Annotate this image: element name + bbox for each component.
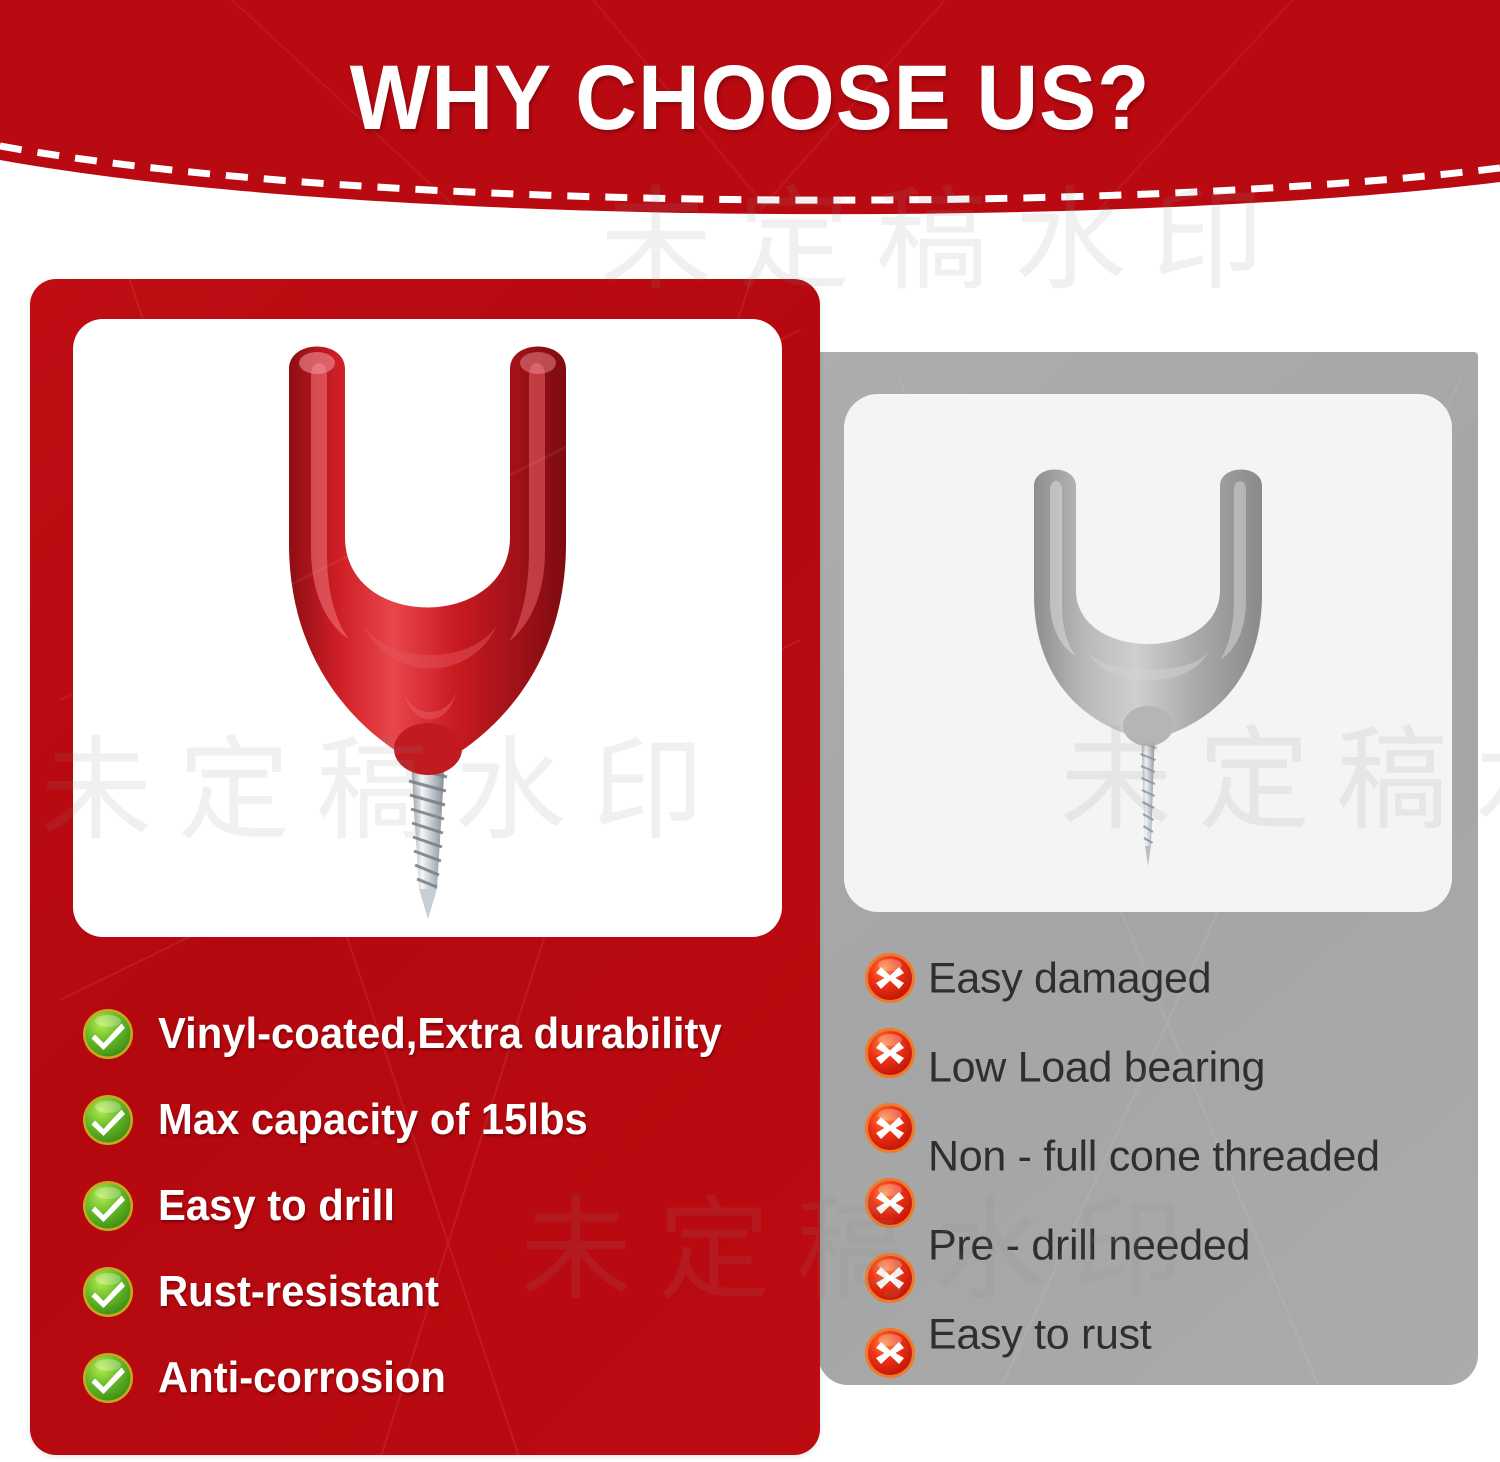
benefit-label: Easy to drill	[158, 1181, 395, 1231]
competitor-product-photo	[844, 394, 1452, 912]
drawback-label: Low Load bearing	[928, 1043, 1265, 1092]
list-item: Easy damaged	[928, 934, 1468, 1023]
benefit-label: Vinyl-coated,Extra durability	[158, 1009, 722, 1059]
drawback-label: Non - full cone threaded	[928, 1132, 1380, 1181]
list-item: Non - full cone threaded	[928, 1112, 1468, 1201]
benefit-label: Anti-corrosion	[158, 1353, 446, 1403]
list-item: Max capacity of 15lbs	[82, 1077, 822, 1163]
icon-slot	[864, 1165, 916, 1240]
our-benefit-list: Vinyl-coated,Extra durability Max capaci…	[82, 991, 822, 1421]
icon-slot	[864, 1240, 916, 1315]
comparison-panel-competitor: Easy damaged Low Load bearing Non - full…	[818, 352, 1478, 1385]
red-cross-icon	[864, 1252, 916, 1304]
drawback-label: Easy to rust	[928, 1310, 1151, 1359]
drawback-label: Pre - drill needed	[928, 1221, 1250, 1270]
icon-slot	[864, 940, 916, 1015]
red-cross-icon	[864, 1102, 916, 1154]
list-item: Easy to drill	[82, 1163, 822, 1249]
competitor-drawback-list: Easy damaged Low Load bearing Non - full…	[928, 934, 1468, 1379]
competitor-icon-column	[864, 940, 916, 1390]
infographic-page: WHY CHOOSE US?	[0, 0, 1500, 1462]
list-item: Vinyl-coated,Extra durability	[82, 991, 822, 1077]
green-check-icon	[82, 1352, 134, 1404]
drawback-label: Easy damaged	[928, 954, 1211, 1003]
list-item: Low Load bearing	[928, 1023, 1468, 1112]
red-cross-icon	[864, 952, 916, 1004]
green-check-icon	[82, 1008, 134, 1060]
page-title: WHY CHOOSE US?	[53, 52, 1448, 144]
icon-slot	[864, 1015, 916, 1090]
list-item: Rust-resistant	[82, 1249, 822, 1335]
red-cross-icon	[864, 1327, 916, 1379]
icon-slot	[864, 1090, 916, 1165]
list-item: Easy to rust	[928, 1290, 1468, 1379]
green-check-icon	[82, 1266, 134, 1318]
header-banner: WHY CHOOSE US?	[0, 0, 1500, 230]
red-cross-icon	[864, 1027, 916, 1079]
comparison-panel-ours: Vinyl-coated,Extra durability Max capaci…	[30, 279, 820, 1455]
benefit-label: Max capacity of 15lbs	[158, 1095, 588, 1145]
red-hook-illustration	[73, 319, 782, 937]
grey-hook-illustration	[844, 394, 1452, 912]
list-item: Pre - drill needed	[928, 1201, 1468, 1290]
list-item: Anti-corrosion	[82, 1335, 822, 1421]
green-check-icon	[82, 1094, 134, 1146]
benefit-label: Rust-resistant	[158, 1267, 439, 1317]
red-cross-icon	[864, 1177, 916, 1229]
green-check-icon	[82, 1180, 134, 1232]
our-product-photo	[73, 319, 782, 937]
icon-slot	[864, 1315, 916, 1390]
